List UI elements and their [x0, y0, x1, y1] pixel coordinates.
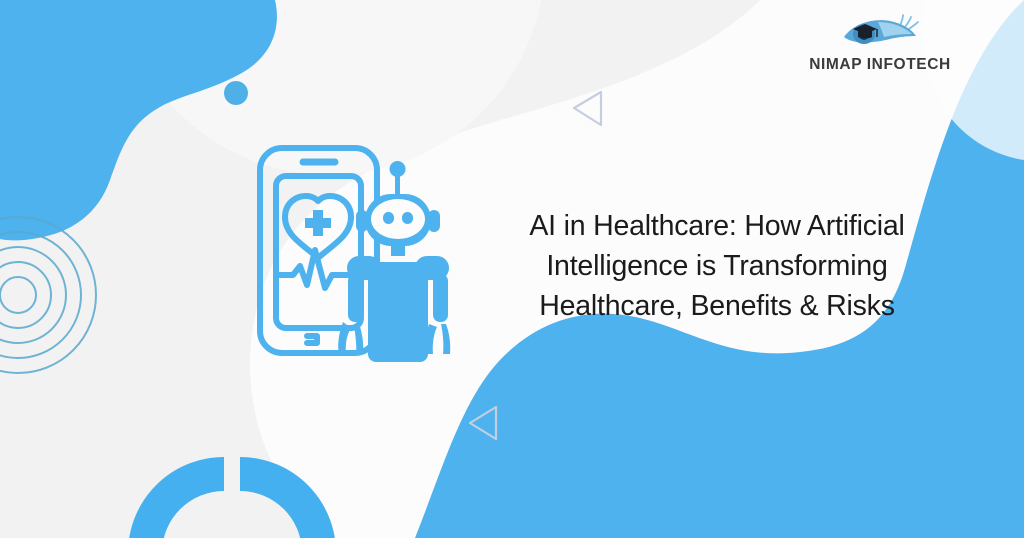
robot-icon [338, 161, 450, 362]
title-line-3: Healthcare, Benefits & Risks [498, 286, 936, 326]
brand-name: NIMAP INFOTECH [800, 56, 960, 74]
title-line-2: Intelligence is Transforming [498, 246, 936, 286]
brand-logo[interactable]: NIMAP INFOTECH [800, 12, 960, 84]
page-title: AI in Healthcare: How Artificial Intelli… [498, 206, 936, 326]
blog-banner: AI in Healthcare: How Artificial Intelli… [0, 0, 1024, 538]
medical-cross-icon [305, 210, 331, 236]
eye-with-graduation-cap-icon [838, 12, 922, 56]
title-line-1: AI in Healthcare: How Artificial [498, 206, 936, 246]
blue-dot-decoration [224, 81, 248, 105]
ai-healthcare-illustration [255, 138, 490, 368]
heartbeat-ecg-icon [279, 250, 355, 288]
smartphone-home-icon [307, 336, 317, 343]
